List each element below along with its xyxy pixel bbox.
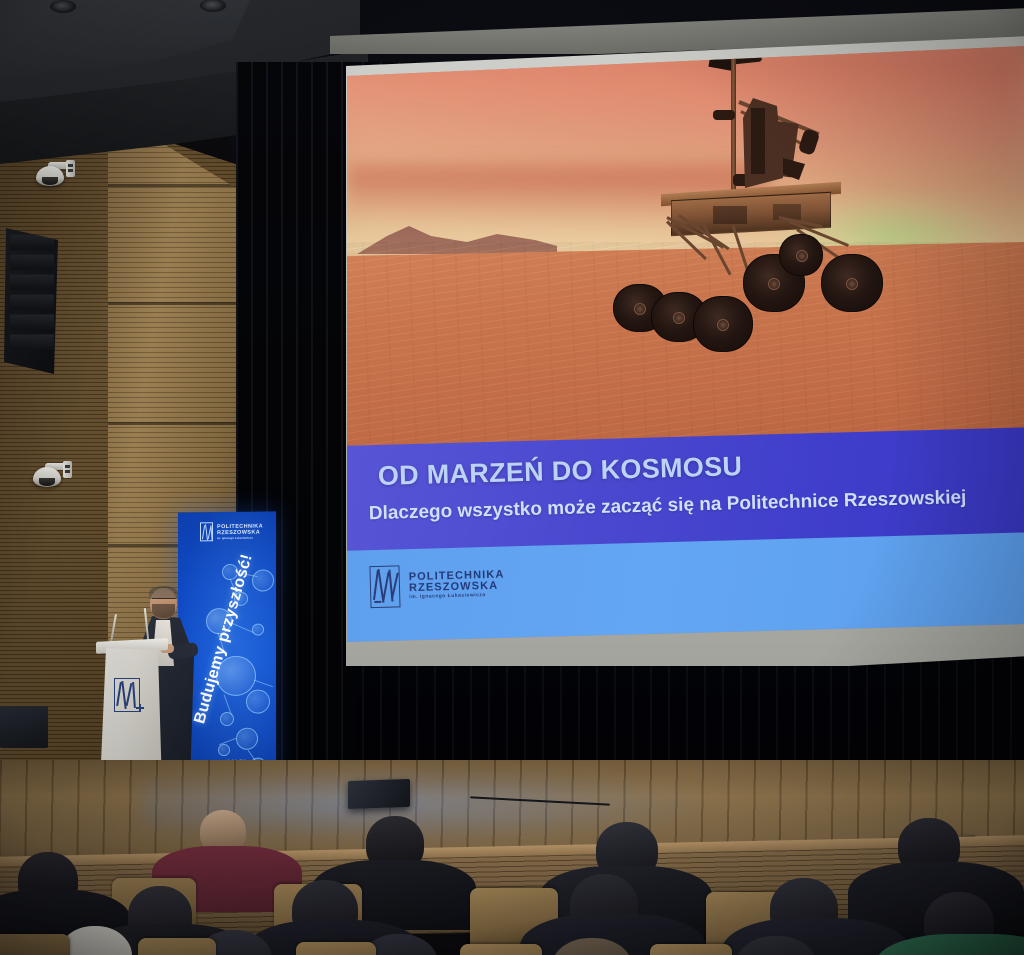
auditorium-seat (460, 944, 542, 955)
rollup-logo-line3: im. Ignacego Łukasiewicza (217, 535, 263, 540)
auditorium-seat (0, 934, 70, 955)
speaker-glasses-icon (152, 598, 176, 603)
prz-logo-mark-icon (200, 522, 213, 541)
line-array-loudspeaker (4, 228, 60, 378)
lectern-logo-cross-icon (136, 704, 144, 712)
stage-monitor-speaker (348, 779, 410, 809)
av-monitor-display (0, 706, 48, 748)
speaker-beard (152, 604, 175, 618)
audience (0, 838, 1024, 955)
slide-logo-band: POLITECHNIKA RZESZOWSKA im. Ignacego Łuk… (347, 532, 1024, 642)
rollup-prz-logo: POLITECHNIKA RZESZOWSKA im. Ignacego Łuk… (200, 521, 263, 541)
prz-logo: POLITECHNIKA RZESZOWSKA im. Ignacego Łuk… (369, 563, 505, 609)
slide-title: OD MARZEŃ DO KOSMOSU (377, 451, 742, 492)
mars-landscape-photo (347, 46, 1024, 466)
projection-screen: OD MARZEŃ DO KOSMOSU Dlaczego wszystko m… (347, 46, 1024, 642)
rollup-logo-line2: RZESZOWSKA (217, 529, 263, 536)
auditorium-seat (650, 944, 732, 955)
mars-rover-illustration (583, 46, 913, 398)
ceiling-downlight-icon (200, 0, 226, 12)
auditorium-seat (138, 938, 216, 955)
slide-subtitle: Dlaczego wszystko może zacząć się na Pol… (369, 487, 967, 525)
ceiling-downlight-icon (50, 0, 76, 13)
auditorium-seat (296, 942, 376, 955)
auditorium-photo: OD MARZEŃ DO KOSMOSU Dlaczego wszystko m… (0, 0, 1024, 955)
prz-logo-mark-icon (369, 565, 400, 608)
prz-logo-line3: im. Ignacego Łukasiewicza (409, 592, 505, 600)
